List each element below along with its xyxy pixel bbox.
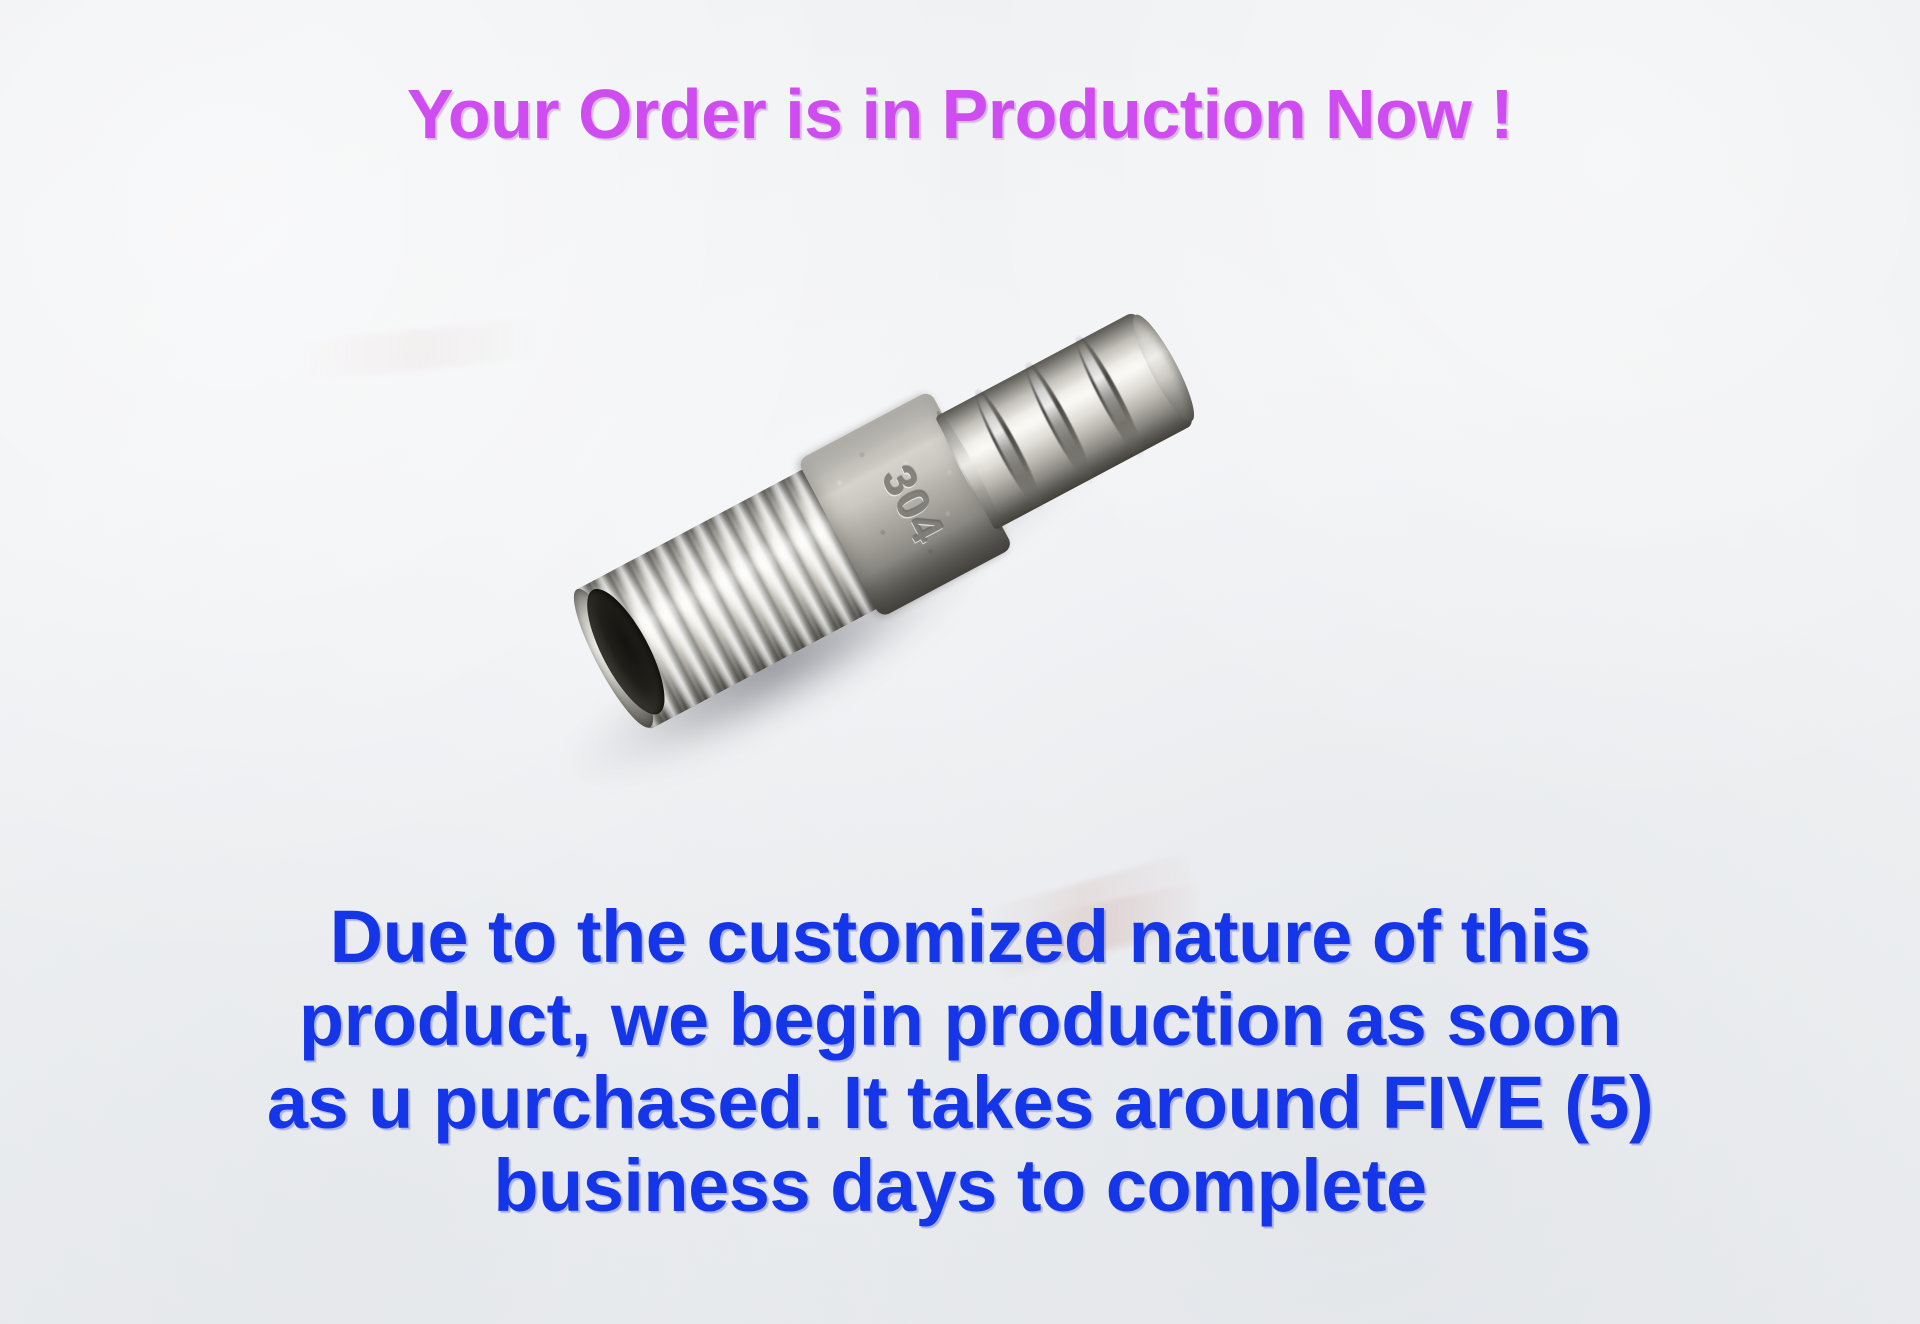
fitting-body: 304 xyxy=(571,294,1198,735)
barb-ridge-highlight xyxy=(969,384,1046,515)
headline-order-in-production: Your Order is in Production Now ! xyxy=(0,74,1920,154)
barb-ridge xyxy=(1018,357,1101,490)
drop-shadow-secondary xyxy=(778,413,1112,647)
drop-shadow xyxy=(539,502,1010,829)
notice-line-2: product, we begin production as soon xyxy=(90,979,1830,1062)
notice-line-1: Due to the customized nature of this xyxy=(90,896,1830,979)
hex-bottom-facet xyxy=(860,509,1013,618)
pipe-rim xyxy=(562,581,665,735)
hose-barb-fitting-illustration: 304 xyxy=(480,300,1280,760)
barbed-section xyxy=(935,311,1195,530)
barb-ridge-highlight xyxy=(1070,331,1147,462)
hex-flats-section xyxy=(797,390,1013,618)
barb-ridge-highlight xyxy=(1019,357,1096,488)
threaded-section-icon xyxy=(574,463,888,730)
barb-tip xyxy=(1124,309,1203,427)
surface-scuff-mark xyxy=(299,318,542,383)
material-grade-stamp: 304 xyxy=(871,457,956,553)
hex-top-facet xyxy=(797,390,948,496)
notice-line-4: business days to complete xyxy=(90,1145,1830,1228)
promo-banner: Your Order is in Production Now ! 304 xyxy=(0,0,1920,1324)
notice-line-3: as u purchased. It takes around FIVE (5) xyxy=(90,1062,1830,1145)
barb-ridge xyxy=(967,384,1050,517)
barb-collar xyxy=(931,408,1007,535)
barb-ridge xyxy=(1068,330,1151,463)
pipe-bore-opening xyxy=(573,579,679,724)
production-notice-text: Due to the customized nature of this pro… xyxy=(90,896,1830,1228)
